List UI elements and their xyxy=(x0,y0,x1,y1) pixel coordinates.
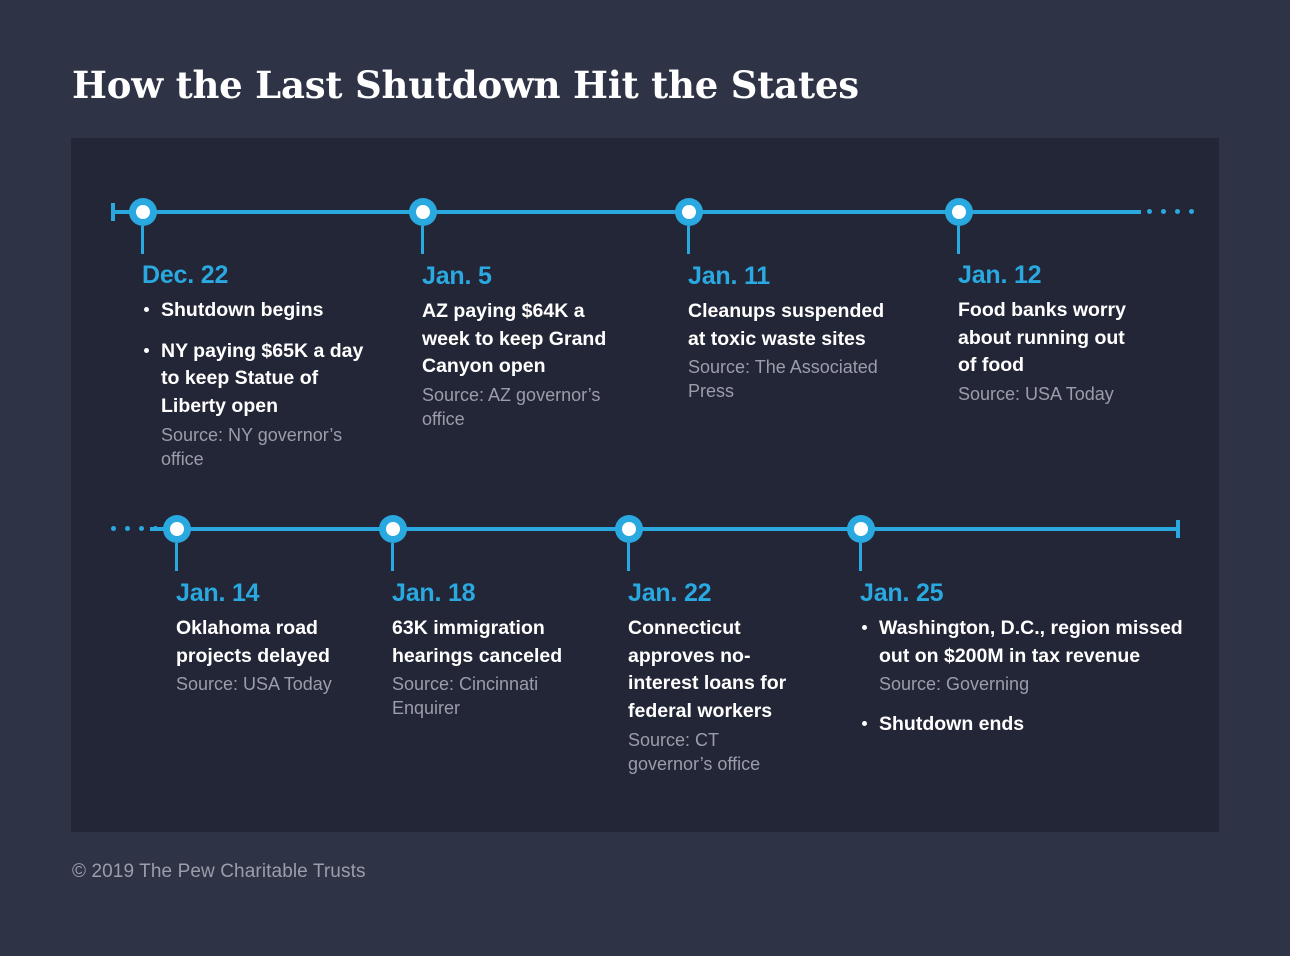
timeline-entry-jan-22: Jan. 22 Connecticut approves no-interest… xyxy=(628,579,800,776)
entry-date: Jan. 25 xyxy=(860,579,1190,608)
row1-rail xyxy=(113,210,1141,214)
entry-headline: Shutdown begins xyxy=(161,297,387,325)
entry-source: Source: USA Today xyxy=(958,383,1143,407)
timeline-node-jan-11[interactable] xyxy=(675,198,703,226)
entry-headline: Washington, D.C., region missed out on $… xyxy=(879,615,1190,670)
entry-source: Source: The Associated Press xyxy=(688,356,896,404)
list-item: Washington, D.C., region missed out on $… xyxy=(860,615,1190,697)
dot-glyph xyxy=(1189,209,1194,214)
row2-end-endcap xyxy=(1176,520,1180,538)
dot-glyph xyxy=(1161,209,1166,214)
entry-date: Jan. 12 xyxy=(958,261,1143,290)
entry-source: Source: Governing xyxy=(879,673,1190,697)
entry-source: Source: USA Today xyxy=(176,673,366,697)
timeline-node-jan-18[interactable] xyxy=(379,515,407,543)
list-item: Shutdown begins xyxy=(142,297,387,325)
row1-node-stem xyxy=(421,226,424,254)
infographic-canvas: How the Last Shutdown Hit the States Dec… xyxy=(0,0,1290,956)
entry-headline: AZ paying $64K a week to keep Grand Cany… xyxy=(422,298,622,381)
row2-rail xyxy=(150,527,1180,531)
list-item: Shutdown ends xyxy=(860,711,1190,739)
entry-date: Jan. 5 xyxy=(422,262,622,291)
timeline-node-jan-5[interactable] xyxy=(409,198,437,226)
timeline-node-jan-22[interactable] xyxy=(615,515,643,543)
page-title: How the Last Shutdown Hit the States xyxy=(72,63,859,107)
entry-source: Source: NY governor’s office xyxy=(161,424,387,472)
dot-glyph xyxy=(1147,209,1152,214)
timeline-node-jan-25[interactable] xyxy=(847,515,875,543)
entry-headline: Connecticut approves no-interest loans f… xyxy=(628,615,800,726)
entry-source: Source: Cincinnati Enquirer xyxy=(392,673,582,721)
timeline-entry-jan-18: Jan. 18 63K immigration hearings cancele… xyxy=(392,579,582,721)
entry-date: Jan. 11 xyxy=(688,262,896,291)
dot-glyph xyxy=(125,526,130,531)
timeline-entry-jan-5: Jan. 5 AZ paying $64K a week to keep Gra… xyxy=(422,262,622,432)
entry-source: Source: CT governor’s office xyxy=(628,729,800,777)
entry-source: Source: AZ governor’s office xyxy=(422,384,622,432)
entry-headline: Food banks worry about running out of fo… xyxy=(958,297,1143,380)
timeline-entry-jan-14: Jan. 14 Oklahoma road projects delayed S… xyxy=(176,579,366,697)
row1-trailing-dots xyxy=(1147,209,1194,214)
entry-headline: 63K immigration hearings canceled xyxy=(392,615,582,670)
dot-glyph xyxy=(111,526,116,531)
entry-date: Jan. 14 xyxy=(176,579,366,608)
entry-date: Jan. 22 xyxy=(628,579,800,608)
entry-bullet-list: Shutdown begins NY paying $65K a day to … xyxy=(142,297,387,471)
entry-headline: NY paying $65K a day to keep Statue of L… xyxy=(161,338,387,421)
timeline-entry-jan-11: Jan. 11 Cleanups suspended at toxic wast… xyxy=(688,262,896,404)
dot-glyph xyxy=(139,526,144,531)
entry-headline: Cleanups suspended at toxic waste sites xyxy=(688,298,896,353)
timeline-entry-jan-12: Jan. 12 Food banks worry about running o… xyxy=(958,261,1143,407)
list-item: NY paying $65K a day to keep Statue of L… xyxy=(142,338,387,472)
entry-date: Dec. 22 xyxy=(142,261,387,290)
row2-node-stem xyxy=(627,543,630,571)
row2-node-stem xyxy=(391,543,394,571)
entry-headline: Oklahoma road projects delayed xyxy=(176,615,366,670)
row1-node-stem xyxy=(687,226,690,254)
row1-node-stem xyxy=(141,226,144,254)
row1-node-stem xyxy=(957,226,960,254)
entry-date: Jan. 18 xyxy=(392,579,582,608)
timeline-node-dec-22[interactable] xyxy=(129,198,157,226)
timeline-entry-dec-22: Dec. 22 Shutdown begins NY paying $65K a… xyxy=(142,261,387,471)
dot-glyph xyxy=(1175,209,1180,214)
timeline-node-jan-12[interactable] xyxy=(945,198,973,226)
timeline-entry-jan-25: Jan. 25 Washington, D.C., region missed … xyxy=(860,579,1190,739)
entry-bullet-list: Washington, D.C., region missed out on $… xyxy=(860,615,1190,739)
row2-node-stem xyxy=(859,543,862,571)
row2-node-stem xyxy=(175,543,178,571)
copyright-footer: © 2019 The Pew Charitable Trusts xyxy=(72,861,366,883)
timeline-node-jan-14[interactable] xyxy=(163,515,191,543)
entry-headline: Shutdown ends xyxy=(879,711,1190,739)
